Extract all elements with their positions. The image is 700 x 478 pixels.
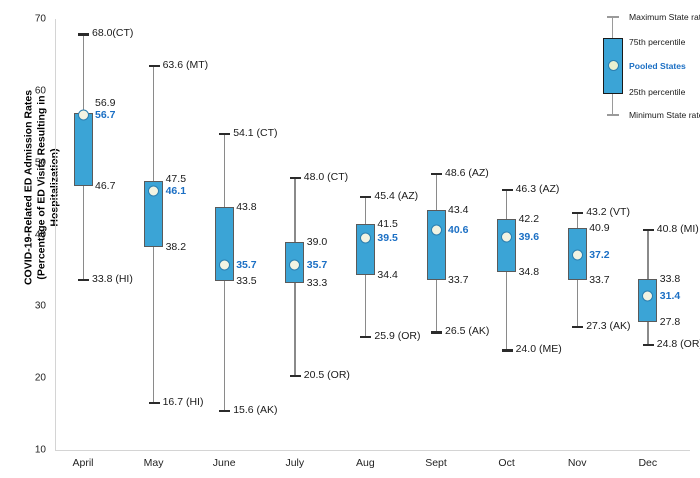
y-axis-line xyxy=(55,19,56,451)
whisker-cap-min xyxy=(149,402,160,404)
label-q1-oct: 34.8 xyxy=(519,266,539,278)
label-q1-dec: 27.8 xyxy=(660,316,680,328)
label-q3-july: 39.0 xyxy=(307,236,327,248)
legend-label-25th: 25th percentile xyxy=(629,87,685,97)
whisker-cap-max xyxy=(643,229,654,231)
whisker-cap-max xyxy=(78,33,89,35)
label-q3-may: 47.5 xyxy=(166,173,186,185)
iqr-box xyxy=(427,210,446,280)
legend-max-cap-icon xyxy=(607,16,619,18)
label-q1-june: 33.5 xyxy=(236,275,256,287)
label-min-dec: 24.8 (OR) xyxy=(657,338,700,350)
whisker-cap-max xyxy=(360,196,371,198)
pooled-states-dot xyxy=(148,185,159,196)
legend-label-maximum: Maximum State rate xyxy=(629,12,700,22)
legend-label-75th: 75th percentile xyxy=(629,37,685,47)
label-q3-nov: 40.9 xyxy=(589,222,609,234)
legend-pooled-dot-icon xyxy=(608,60,619,71)
label-max-may: 63.6 (MT) xyxy=(163,59,209,71)
label-q3-april: 56.9 xyxy=(95,97,115,109)
label-min-sept: 26.5 (AK) xyxy=(445,325,489,337)
pooled-states-dot xyxy=(431,225,442,236)
whisker-cap-min xyxy=(643,344,654,346)
iqr-box xyxy=(356,224,375,275)
pooled-states-dot xyxy=(501,232,512,243)
label-pooled-april: 56.7 xyxy=(95,109,115,121)
x-tick-label-july: July xyxy=(260,457,330,469)
label-min-may: 16.7 (HI) xyxy=(163,396,204,408)
covid-ed-admission-box-chart: COVID-19-Related ED Admission Rates (Per… xyxy=(0,0,700,478)
chart-legend: Maximum State rate 75th percentile Poole… xyxy=(591,8,700,120)
label-max-june: 54.1 (CT) xyxy=(233,127,277,139)
x-tick-label-june: June xyxy=(189,457,259,469)
y-tick-label: 10 xyxy=(0,445,46,456)
label-min-april: 33.8 (HI) xyxy=(92,273,133,285)
whisker-cap-min xyxy=(219,410,230,412)
whisker-cap-min xyxy=(572,326,583,328)
pooled-states-dot xyxy=(360,233,371,244)
x-tick-label-dec: Dec xyxy=(613,457,683,469)
label-pooled-june: 35.7 xyxy=(236,259,256,271)
label-max-april: 68.0(CT) xyxy=(92,27,133,39)
label-min-aug: 25.9 (OR) xyxy=(374,330,420,342)
y-tick-label: 60 xyxy=(0,85,46,96)
label-q1-july: 33.3 xyxy=(307,277,327,289)
x-axis-line xyxy=(55,450,690,451)
label-q1-may: 38.2 xyxy=(166,241,186,253)
pooled-states-dot xyxy=(642,291,653,302)
y-tick-label: 70 xyxy=(0,14,46,25)
y-tick-label: 20 xyxy=(0,373,46,384)
label-q3-aug: 41.5 xyxy=(377,218,397,230)
label-pooled-oct: 39.6 xyxy=(519,231,539,243)
x-tick-label-may: May xyxy=(119,457,189,469)
whisker-cap-max xyxy=(290,177,301,179)
label-pooled-sept: 40.6 xyxy=(448,224,468,236)
label-pooled-may: 46.1 xyxy=(166,185,186,197)
label-q1-nov: 33.7 xyxy=(589,274,609,286)
x-tick-label-sept: Sept xyxy=(401,457,471,469)
whisker-cap-min xyxy=(502,349,513,351)
x-tick-label-aug: Aug xyxy=(330,457,400,469)
label-q3-sept: 43.4 xyxy=(448,204,468,216)
label-max-nov: 43.2 (VT) xyxy=(586,206,630,218)
label-min-nov: 27.3 (AK) xyxy=(586,320,630,332)
legend-label-pooled: Pooled States xyxy=(629,61,686,71)
label-pooled-july: 35.7 xyxy=(307,259,327,271)
whisker-cap-max xyxy=(502,189,513,191)
label-q3-oct: 42.2 xyxy=(519,213,539,225)
y-tick-label: 30 xyxy=(0,301,46,312)
whisker-cap-max xyxy=(572,212,583,214)
iqr-box xyxy=(497,219,516,272)
x-tick-label-nov: Nov xyxy=(542,457,612,469)
y-tick-label: 40 xyxy=(0,229,46,240)
label-max-dec: 40.8 (MI) xyxy=(657,223,699,235)
label-q1-aug: 34.4 xyxy=(377,269,397,281)
label-min-june: 15.6 (AK) xyxy=(233,404,277,416)
label-pooled-aug: 39.5 xyxy=(377,232,397,244)
label-min-oct: 24.0 (ME) xyxy=(516,343,562,355)
label-max-july: 48.0 (CT) xyxy=(304,171,348,183)
label-pooled-nov: 37.2 xyxy=(589,249,609,261)
pooled-states-dot xyxy=(219,260,230,271)
label-max-sept: 48.6 (AZ) xyxy=(445,167,489,179)
whisker-cap-min xyxy=(78,279,89,281)
label-max-aug: 45.4 (AZ) xyxy=(374,190,418,202)
pooled-states-dot xyxy=(78,109,89,120)
x-tick-label-april: April xyxy=(48,457,118,469)
whisker-cap-min xyxy=(431,331,442,333)
label-q1-april: 46.7 xyxy=(95,180,115,192)
label-q1-sept: 33.7 xyxy=(448,274,468,286)
legend-min-cap-icon xyxy=(607,114,619,116)
whisker-cap-max xyxy=(149,65,160,67)
label-q3-dec: 33.8 xyxy=(660,273,680,285)
iqr-box xyxy=(74,113,93,186)
label-max-oct: 46.3 (AZ) xyxy=(516,183,560,195)
legend-label-minimum: Minimum State rate xyxy=(629,110,700,120)
whisker-cap-min xyxy=(360,336,371,338)
whisker-cap-max xyxy=(431,173,442,175)
label-pooled-dec: 31.4 xyxy=(660,290,680,302)
pooled-states-dot xyxy=(289,260,300,271)
whisker-cap-min xyxy=(290,375,301,377)
label-min-july: 20.5 (OR) xyxy=(304,369,350,381)
whisker-cap-max xyxy=(219,133,230,135)
label-q3-june: 43.8 xyxy=(236,201,256,213)
pooled-states-dot xyxy=(572,249,583,260)
y-tick-label: 50 xyxy=(0,157,46,168)
x-tick-label-oct: Oct xyxy=(472,457,542,469)
